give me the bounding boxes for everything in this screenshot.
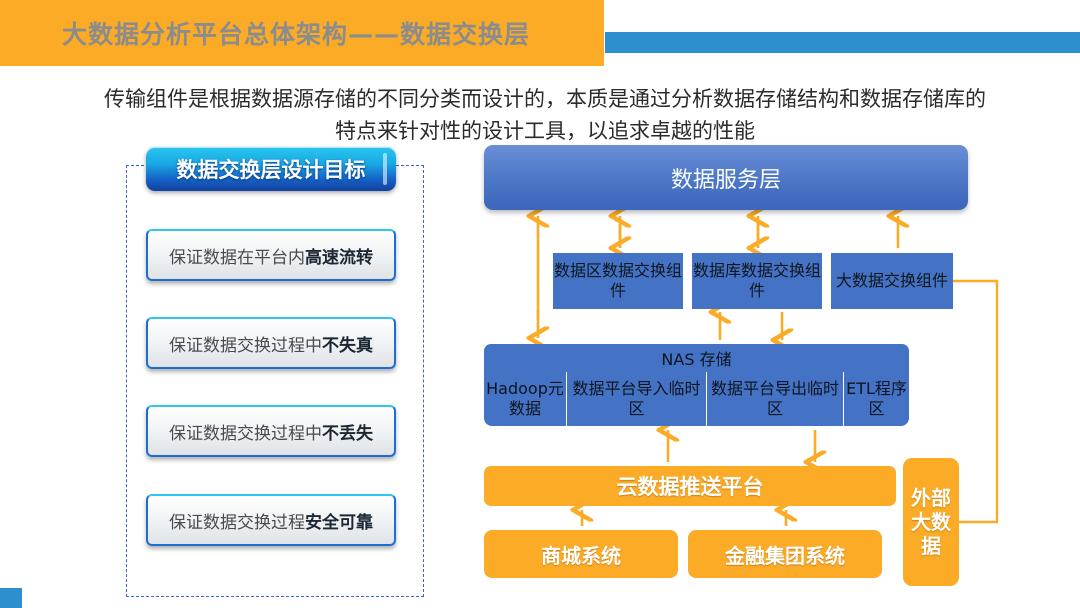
goals-panel-header-label: 数据交换层设计目标: [177, 154, 366, 184]
nas-cell-import-label: 数据平台导入临时区: [567, 379, 706, 419]
system-box-mall[interactable]: 商城系统: [484, 530, 678, 578]
goal-item-4-label: 保证数据交换过程安全可靠: [169, 508, 373, 533]
goal-item-1[interactable]: 保证数据在平台内高速流转: [146, 229, 396, 281]
architecture-diagram: 数据服务层 数据区数据交换组件 数据库数据交换组件 大数据交换组件 NAS 存储…: [470, 140, 1070, 605]
goal-item-3-label: 保证数据交换过程中不丢失: [169, 419, 373, 444]
nas-cell-etl[interactable]: ETL程序区: [843, 372, 909, 426]
service-layer-label: 数据服务层: [671, 162, 781, 194]
component-box-database[interactable]: 数据库数据交换组件: [692, 253, 822, 309]
nas-cell-export[interactable]: 数据平台导出临时区: [706, 372, 843, 426]
page-title: 大数据分析平台总体架构——数据交换层: [62, 15, 530, 51]
component-box-bigdata-label: 大数据交换组件: [836, 271, 948, 291]
service-layer-box[interactable]: 数据服务层: [484, 145, 968, 210]
intro-paragraph: 传输组件是根据数据源存储的不同分类而设计的，本质是通过分析数据存储结构和数据存储…: [100, 84, 990, 147]
goal-item-1-label: 保证数据在平台内高速流转: [169, 243, 373, 268]
goal-item-2-label: 保证数据交换过程中不失真: [169, 331, 373, 356]
component-box-data-zone[interactable]: 数据区数据交换组件: [553, 253, 683, 309]
external-bigdata-label: 外部大数据: [903, 486, 959, 558]
goal-item-2[interactable]: 保证数据交换过程中不失真: [146, 317, 396, 369]
component-box-bigdata[interactable]: 大数据交换组件: [831, 253, 953, 309]
nas-cell-import[interactable]: 数据平台导入临时区: [566, 372, 706, 426]
nas-cell-etl-label: ETL程序区: [844, 379, 909, 419]
system-box-finance[interactable]: 金融集团系统: [688, 530, 882, 578]
goal-item-4[interactable]: 保证数据交换过程安全可靠: [146, 494, 396, 546]
nas-cell-hadoop[interactable]: Hadoop元数据: [484, 372, 566, 426]
component-box-data-zone-label: 数据区数据交换组件: [553, 261, 683, 301]
cloud-push-platform-box[interactable]: 云数据推送平台: [484, 466, 896, 506]
external-bigdata-box[interactable]: 外部大数据: [903, 458, 959, 586]
goals-panel-header: 数据交换层设计目标: [146, 147, 396, 191]
goal-item-3[interactable]: 保证数据交换过程中不丢失: [146, 405, 396, 457]
cloud-push-platform-label: 云数据推送平台: [617, 471, 764, 501]
nas-storage-header[interactable]: NAS 存储: [484, 344, 909, 372]
nas-cell-hadoop-label: Hadoop元数据: [484, 379, 566, 419]
system-box-finance-label: 金融集团系统: [725, 540, 845, 569]
component-box-database-label: 数据库数据交换组件: [692, 261, 822, 301]
corner-accent: [0, 588, 22, 608]
system-box-mall-label: 商城系统: [541, 540, 621, 569]
slide-root: 大数据分析平台总体架构——数据交换层 传输组件是根据数据源存储的不同分类而设计的…: [0, 0, 1080, 608]
nas-storage-header-label: NAS 存储: [661, 346, 731, 370]
header-accent-bar: [605, 32, 1080, 53]
nas-cell-export-label: 数据平台导出临时区: [707, 379, 843, 419]
